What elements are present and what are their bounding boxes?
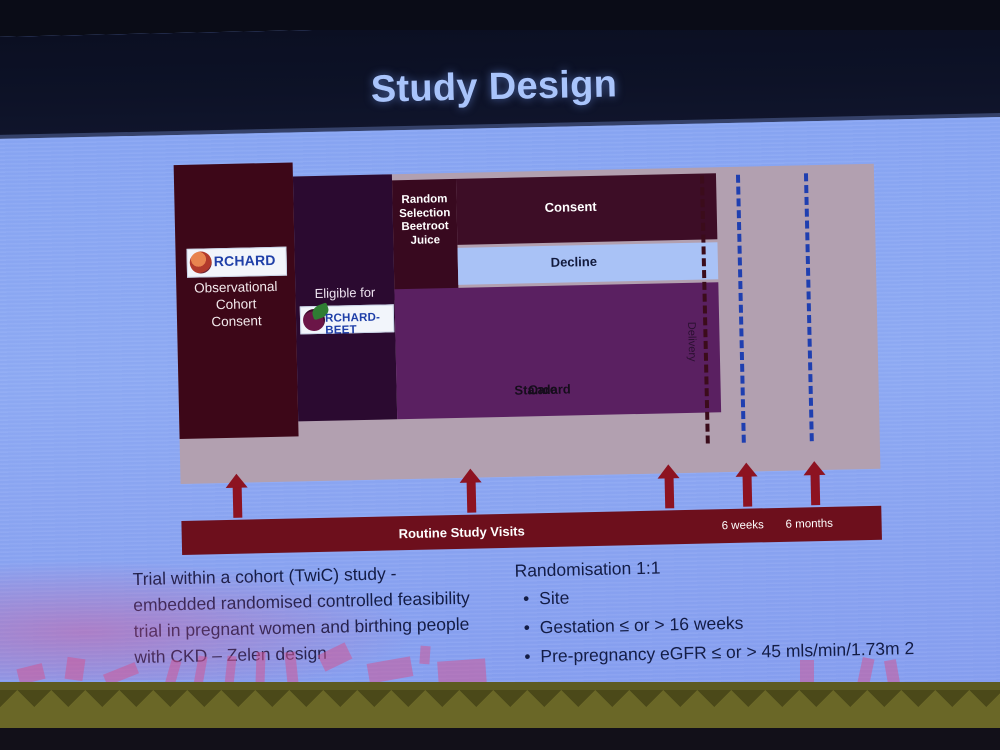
orchard-cohort-column: RCHARD Observational Cohort Consent bbox=[174, 162, 299, 439]
orchard-caption: Observational Cohort Consent bbox=[176, 277, 296, 331]
decline-branch: Decline bbox=[458, 242, 719, 285]
orchard-caption-line-1: Observational bbox=[176, 277, 295, 297]
randomisation-block: Randomisation 1:1 Site Gestation ≤ or > … bbox=[514, 549, 936, 673]
routine-visits-axis: Routine Study Visits 6 weeks 6 months bbox=[180, 420, 882, 555]
delivery-label: Delivery bbox=[685, 322, 698, 362]
photographed-slide: Study Design RCHARD Observational Cohort bbox=[0, 0, 1000, 750]
list-item: Pre-pregnancy eGFR ≤ or > 45 mls/min/1.7… bbox=[540, 635, 936, 670]
orchard-beet-logo: RCHARD-BEET bbox=[300, 304, 395, 334]
beetroot-icon bbox=[303, 309, 325, 331]
random-line-2: Selection bbox=[393, 206, 457, 221]
room-floor-band bbox=[0, 728, 1000, 750]
randomisation-bullet-list: Site Gestation ≤ or > 16 weeks Pre-pregn… bbox=[515, 577, 937, 670]
wall-mark bbox=[255, 652, 265, 686]
six-weeks-tick-label: 6 weeks bbox=[722, 519, 764, 532]
room-ceiling-band bbox=[0, 0, 1000, 30]
wall-mark bbox=[419, 646, 430, 665]
orchard-logo: RCHARD bbox=[186, 247, 287, 278]
random-selection-column: Random Selection Beetroot Juice bbox=[392, 179, 459, 300]
orchard-logo-mark-icon bbox=[190, 251, 212, 273]
wall-mark bbox=[65, 657, 86, 681]
standard-care-label: Standard Care bbox=[395, 331, 687, 353]
random-selection-label: Random Selection Beetroot Juice bbox=[392, 193, 457, 248]
curtain-valance bbox=[0, 682, 1000, 728]
orchard-beet-logo-text: RCHARD-BEET bbox=[325, 311, 394, 336]
eligible-column: Eligible for RCHARD-BEET bbox=[293, 174, 397, 421]
decline-label: Decline bbox=[458, 252, 690, 272]
wall-mark bbox=[800, 660, 814, 684]
standard-care-branch: Standard Care bbox=[394, 282, 721, 419]
random-line-4: Juice bbox=[393, 233, 457, 248]
orchard-logo-text: RCHARD bbox=[214, 252, 276, 269]
random-line-1: Random bbox=[392, 193, 456, 208]
standard-care-line-2: Care bbox=[396, 379, 688, 401]
consent-label: Consent bbox=[456, 197, 684, 217]
eligible-label: Eligible for bbox=[295, 284, 394, 301]
page-title: Study Design bbox=[0, 55, 1000, 121]
stray-projection-glow bbox=[0, 560, 420, 680]
curtain-zigzag-pattern bbox=[0, 690, 1000, 730]
random-line-3: Beetroot bbox=[393, 220, 457, 235]
orchard-caption-line-3: Consent bbox=[177, 311, 296, 331]
consent-branch: Consent bbox=[456, 173, 717, 245]
routine-study-visits-label: Routine Study Visits bbox=[182, 519, 742, 546]
six-months-tick-label: 6 months bbox=[785, 518, 833, 531]
